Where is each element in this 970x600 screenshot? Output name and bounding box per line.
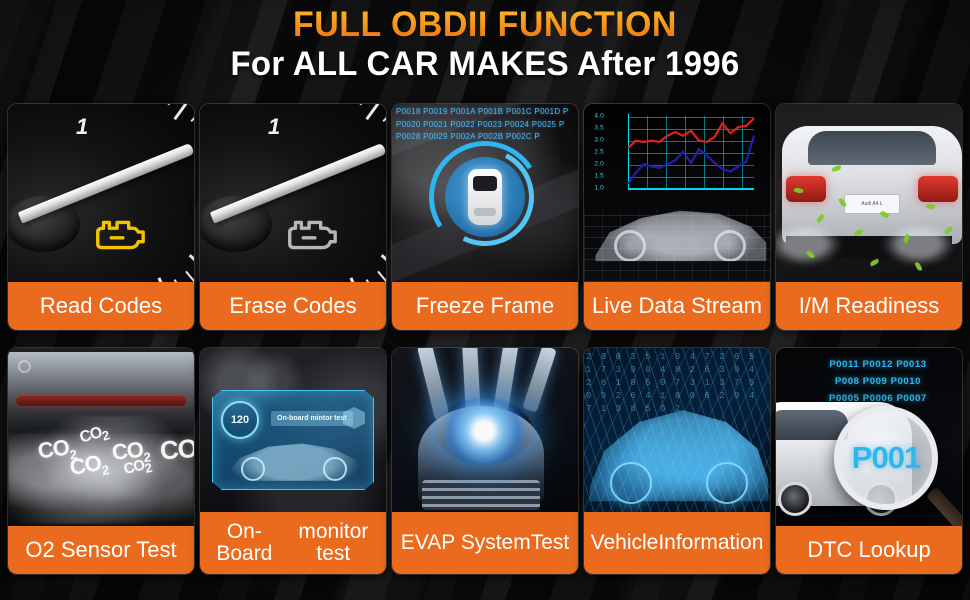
thumbnail-on-board-monitor-test: 120 On-board mintor test — [200, 348, 386, 512]
card-freeze-frame[interactable]: P0018 P0019 P001A P001B P001C P001D P P0… — [392, 104, 578, 330]
thumbnail-evap-system-test — [392, 348, 578, 512]
card-label-on-board-monitor-test: On-Board monitor test — [200, 512, 386, 574]
chart-ytick: 1.0 — [594, 185, 604, 192]
thumbnail-live-data-stream: 4.0 3.5 3.0 2.5 2.0 1.5 1.0 — [584, 104, 770, 282]
combustion-glow — [436, 398, 532, 464]
exhaust-smoke — [776, 222, 842, 266]
magnifier-icon: P001 — [834, 406, 938, 510]
car-wheel — [706, 462, 748, 504]
chart-plot-area — [628, 116, 754, 190]
exhaust-background: CO2 CO2 CO2 CO2 CO2 CO2 — [8, 348, 194, 526]
hud-wheel — [323, 457, 347, 481]
chart-ytick: 1.5 — [594, 173, 604, 180]
card-label-dtc-lookup: DTC Lookup — [776, 526, 962, 574]
leaf-icon — [869, 259, 879, 267]
card-o2-sensor-test[interactable]: CO2 CO2 CO2 CO2 CO2 CO2 O2 Sensor Test — [8, 348, 194, 574]
thumbnail-o2-sensor-test: CO2 CO2 CO2 CO2 CO2 CO2 — [8, 348, 194, 526]
card-label-vehicle-information: Vehicle Information — [584, 512, 770, 574]
thumbnail-read-codes: 1 — [8, 104, 194, 282]
card-im-readiness[interactable]: Audi A4 L — [776, 104, 962, 330]
dtc-code-line: P0011 P0012 P0013 — [798, 356, 958, 373]
co2-label: CO2 — [159, 433, 194, 469]
car-wheel — [714, 230, 746, 262]
card-label-o2-sensor-test: O2 Sensor Test — [8, 526, 194, 574]
hud-wheel — [241, 457, 265, 481]
dtc-code-overlay: P0018 P0019 P001A P001B P001C P001D P P0… — [396, 106, 576, 144]
valve-stem — [522, 348, 557, 413]
card-label-live-data-stream: Live Data Stream — [584, 282, 770, 330]
chart-ytick: 3.5 — [594, 125, 604, 132]
check-engine-icon — [282, 214, 340, 254]
chart-ytick: 4.0 — [594, 113, 604, 120]
data-background: 2 8 0 3 5 1 9 4 7 2 6 5 1 7 3 9 0 4 8 2 … — [584, 348, 770, 512]
chart-series-blue — [628, 136, 754, 184]
dtc-code-line: P008 P009 P0010 — [798, 373, 958, 390]
header-banner: FULL OBDII FUNCTION For ALL CAR MAKES Af… — [0, 0, 970, 100]
feature-grid: 1 — [8, 104, 962, 574]
label-line-2: monitor test — [285, 521, 382, 565]
thumbnail-dtc-lookup: P0011 P0012 P0013 P008 P009 P0010 P0005 … — [776, 348, 962, 526]
feature-row-2: CO2 CO2 CO2 CO2 CO2 CO2 O2 Sensor Test 1… — [8, 348, 962, 574]
label-line-1: Vehicle — [591, 532, 659, 554]
gauge-dial — [200, 104, 386, 282]
card-vehicle-information[interactable]: 2 8 0 3 5 1 9 4 7 2 6 5 1 7 3 9 0 4 8 2 … — [584, 348, 770, 574]
thumbnail-erase-codes: 1 — [200, 104, 386, 282]
card-label-read-codes: Read Codes — [8, 282, 194, 330]
hud-gauge: 120 — [221, 401, 259, 439]
car-wheel — [778, 482, 812, 516]
feature-row-1: 1 — [8, 104, 962, 330]
dashboard-background: 120 On-board mintor test — [200, 348, 386, 512]
dtc-code-overlay: P0011 P0012 P0013 P008 P009 P0010 P0005 … — [798, 356, 958, 407]
car-wheel — [614, 230, 646, 262]
page-subtitle: For ALL CAR MAKES After 1996 — [15, 47, 956, 83]
piston-rings — [422, 480, 540, 510]
rear-window — [808, 131, 936, 165]
gauge-dial — [8, 104, 194, 282]
hud-panel: 120 On-board mintor test — [212, 390, 374, 490]
data-stream-background: 4.0 3.5 3.0 2.5 2.0 1.5 1.0 — [584, 104, 770, 282]
scan-ring-icon — [429, 141, 541, 253]
card-label-im-readiness: I/M Readiness — [776, 282, 962, 330]
card-evap-system-test[interactable]: EVAP System Test — [392, 348, 578, 574]
chart-ytick: 2.0 — [594, 161, 604, 168]
card-label-freeze-frame: Freeze Frame — [392, 282, 578, 330]
gauge-illustration: 1 — [8, 104, 194, 282]
chart-ytick: 2.5 — [594, 149, 604, 156]
chart-ytick: 3.0 — [594, 137, 604, 144]
car-wheel — [610, 462, 652, 504]
hud-car-outline — [223, 431, 365, 483]
dtc-code-line: P0018 P0019 P001A P001B P001C P001D P — [396, 106, 576, 119]
card-label-erase-codes: Erase Codes — [200, 282, 386, 330]
car-window — [776, 410, 848, 440]
card-live-data-stream[interactable]: 4.0 3.5 3.0 2.5 2.0 1.5 1.0 Live Data S — [584, 104, 770, 330]
valve-stem — [417, 348, 450, 421]
card-on-board-monitor-test[interactable]: 120 On-board mintor test On-Board monito… — [200, 348, 386, 574]
dtc-background: P0011 P0012 P0013 P008 P009 P0010 P0005 … — [776, 348, 962, 526]
thumbnail-im-readiness: Audi A4 L — [776, 104, 962, 282]
check-engine-icon — [90, 214, 148, 254]
reflector-strip — [16, 396, 186, 406]
label-line-1: On-Board — [204, 521, 285, 565]
card-erase-codes[interactable]: 1 — [200, 104, 386, 330]
card-dtc-lookup[interactable]: P0011 P0012 P0013 P008 P009 P0010 P0005 … — [776, 348, 962, 574]
engine-background — [392, 348, 578, 512]
dtc-code-line: P0020 P0021 P0022 P0023 P0024 P0025 P — [396, 119, 576, 132]
page-title: FULL OBDII FUNCTION — [15, 7, 956, 42]
gauge-illustration: 1 — [200, 104, 386, 282]
card-read-codes[interactable]: 1 — [8, 104, 194, 330]
thumbnail-freeze-frame: P0018 P0019 P001A P001B P001C P001D P P0… — [392, 104, 578, 282]
label-line-1: EVAP System — [401, 532, 531, 554]
hud-status-pill: On-board mintor test — [271, 411, 353, 426]
tail-light-right — [918, 176, 958, 202]
thumbnail-vehicle-information: 2 8 0 3 5 1 9 4 7 2 6 5 1 7 3 9 0 4 8 2 … — [584, 348, 770, 512]
card-label-evap-system-test: EVAP System Test — [392, 512, 578, 574]
garage-background: Audi A4 L — [776, 104, 962, 282]
car-top-view-icon — [468, 169, 502, 225]
chart-series-red — [628, 118, 754, 148]
tail-light-left — [786, 176, 826, 202]
label-line-2: Test — [531, 532, 570, 554]
label-line-2: Information — [658, 532, 763, 554]
live-data-chart: 4.0 3.5 3.0 2.5 2.0 1.5 1.0 — [606, 114, 756, 204]
magnifier-handle — [926, 487, 962, 526]
sensor-dot-icon — [18, 360, 31, 373]
magnified-code: P001 — [852, 440, 920, 476]
license-plate: Audi A4 L — [844, 194, 900, 214]
